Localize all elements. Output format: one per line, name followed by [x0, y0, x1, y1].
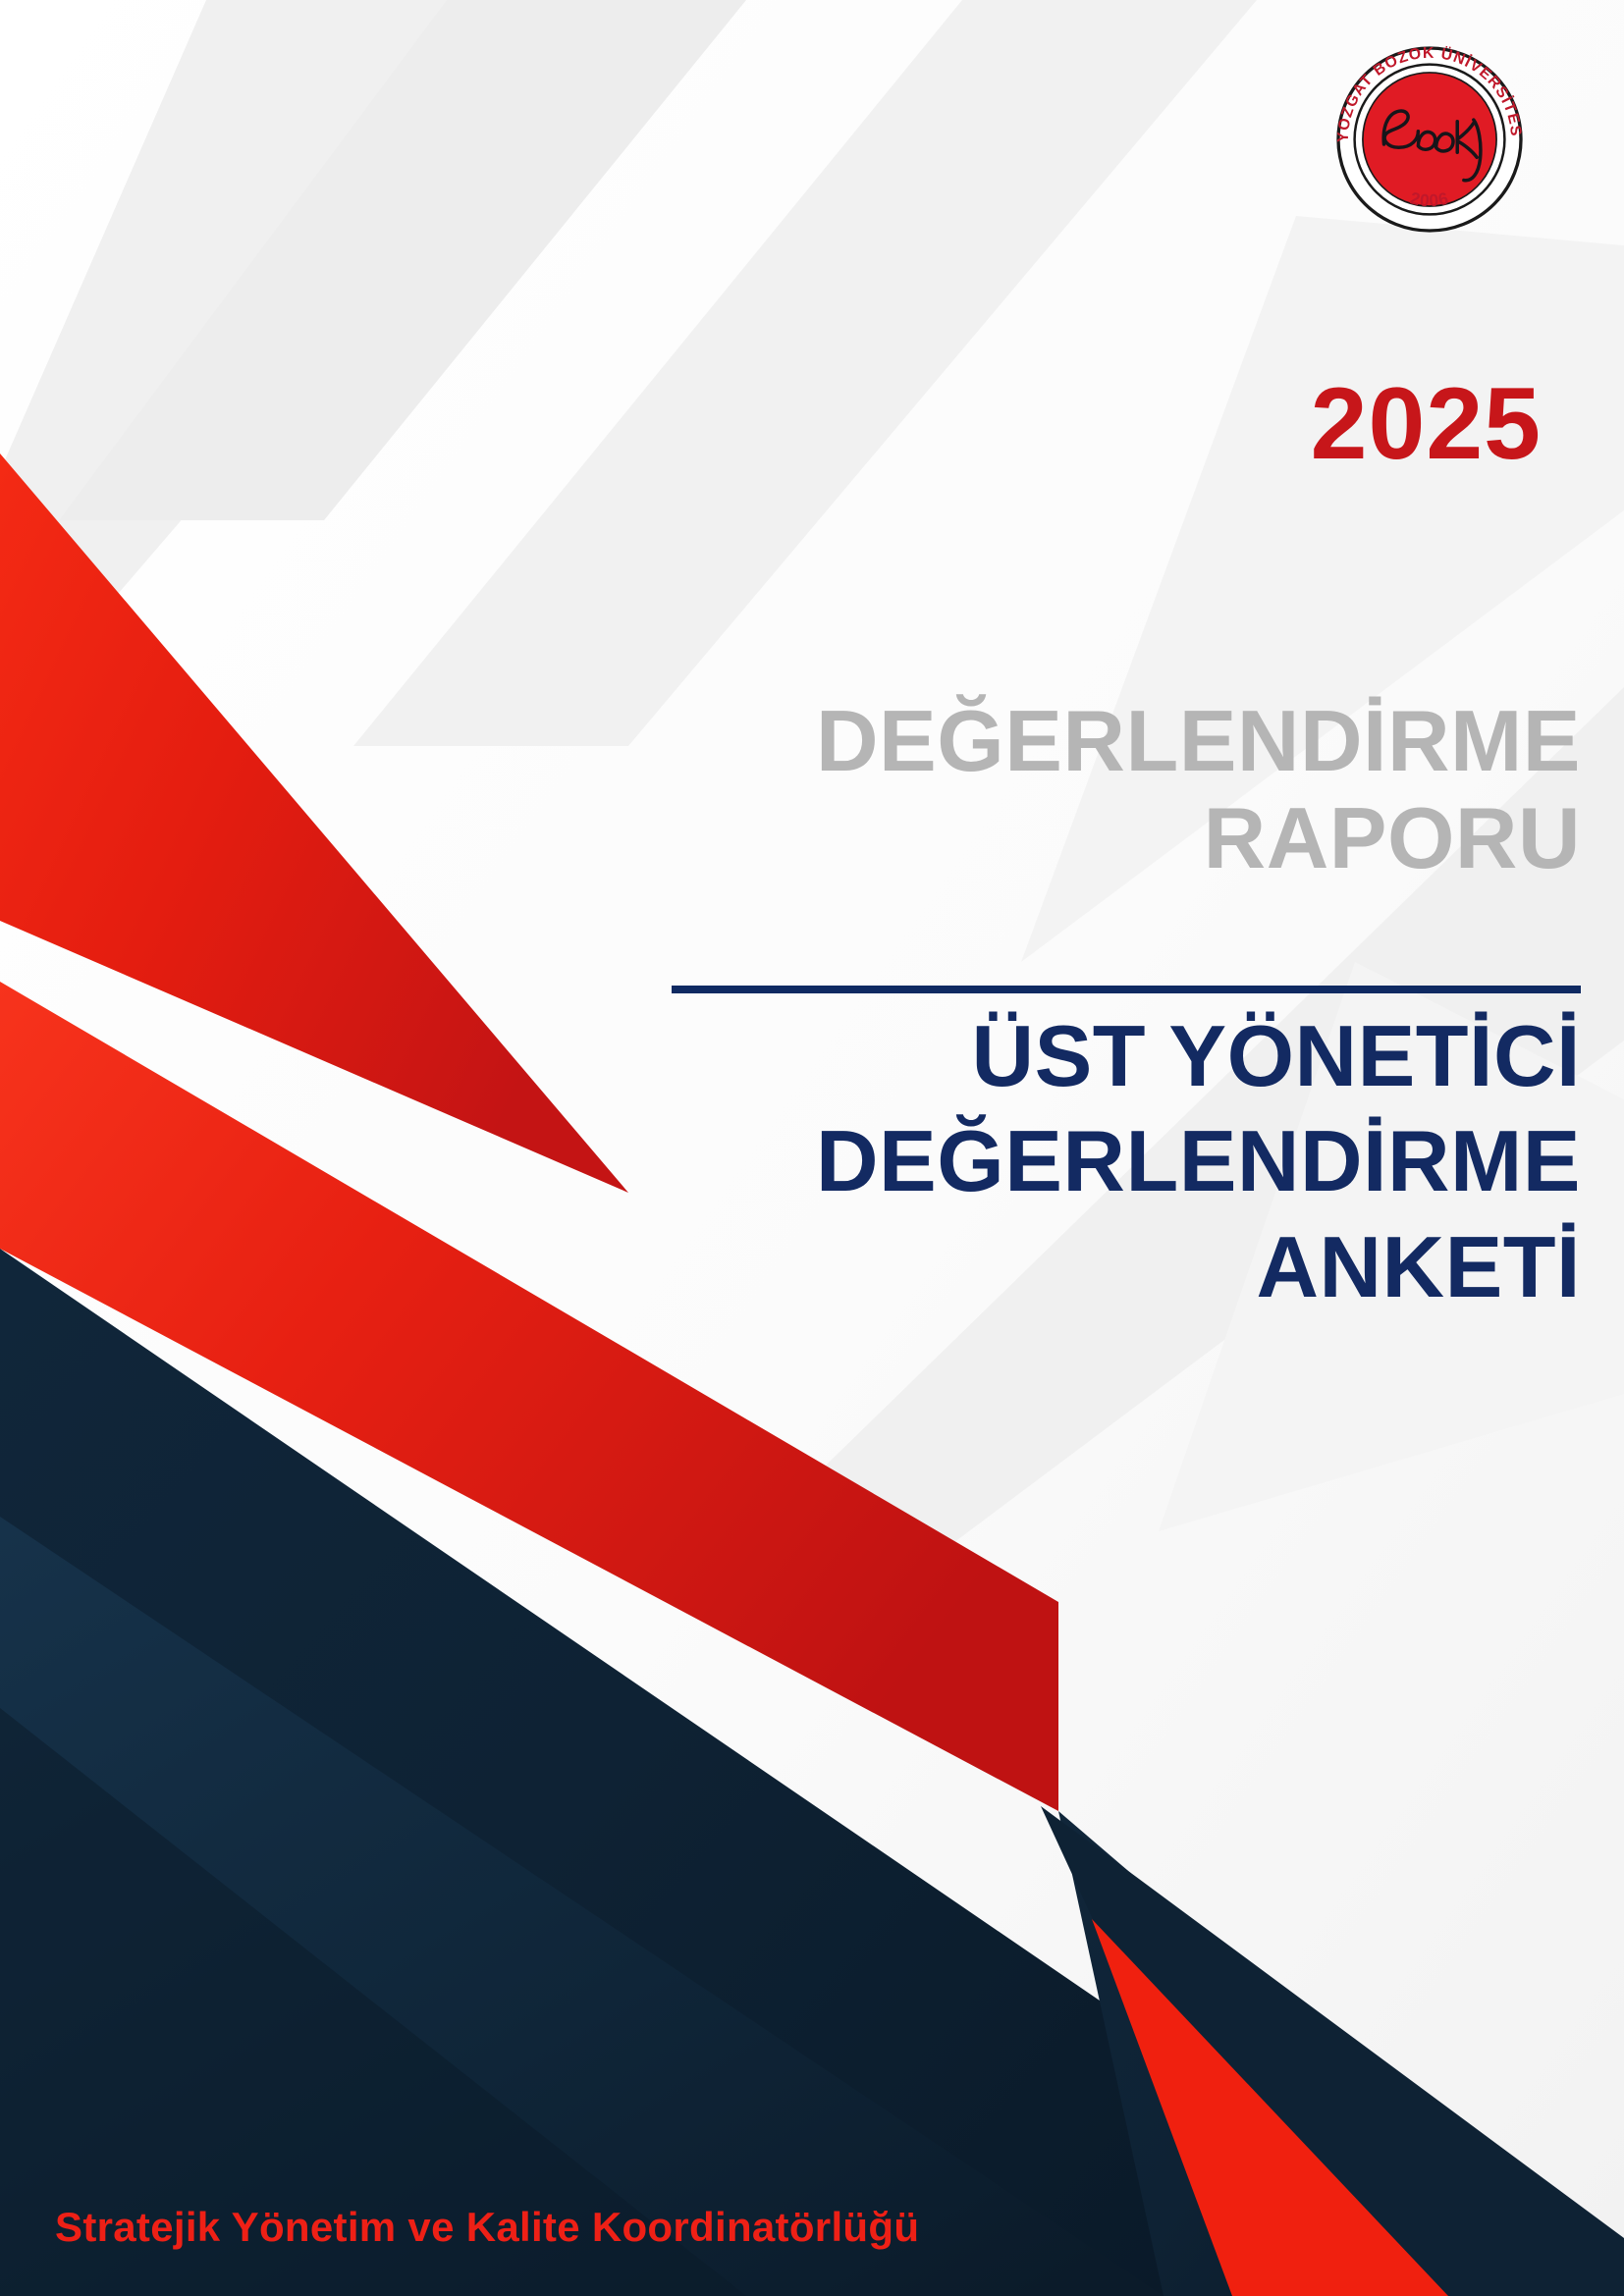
page-title-line-3: ANKETİ [520, 1214, 1581, 1319]
logo-founded-year: 2006 [1408, 187, 1450, 210]
report-heading-line-1: DEĞERLENDİRME [589, 693, 1581, 790]
logo-founded-year-path: 2006 [1408, 187, 1450, 210]
page-title-line-1: ÜST YÖNETİCİ [520, 1003, 1581, 1108]
page-title-line-2: DEĞERLENDİRME [520, 1108, 1581, 1213]
report-heading-line-2: RAPORU [589, 790, 1581, 887]
title-divider-rule [672, 986, 1581, 993]
footer-department-name: Stratejik Yönetim ve Kalite Koordinatörl… [55, 2204, 919, 2251]
page-title: ÜST YÖNETİCİ DEĞERLENDİRME ANKETİ [520, 1003, 1581, 1319]
report-year: 2025 [1311, 373, 1542, 475]
report-cover-page: YOZGAT BOZOK ÜNİVERSİTESİ 2006 2025 DEĞE… [0, 0, 1624, 2296]
yozgat-bozok-universitesi-logo: YOZGAT BOZOK ÜNİVERSİTESİ 2006 [1314, 43, 1545, 236]
report-heading: DEĞERLENDİRME RAPORU [589, 693, 1581, 886]
